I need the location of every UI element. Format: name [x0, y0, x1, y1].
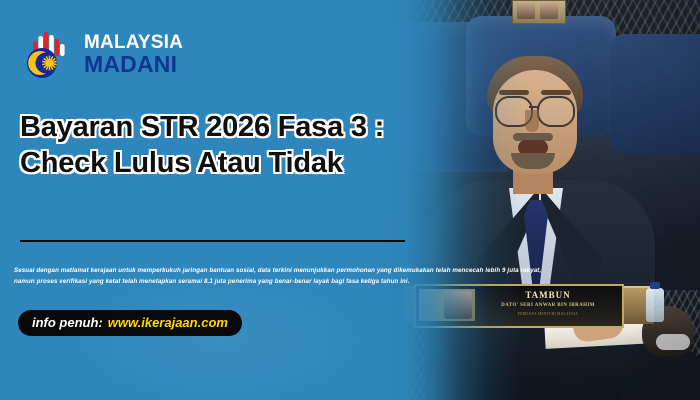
logo-line-madani: MADANI: [84, 53, 183, 76]
fineprint-line-2: namun proses verifikasi yang ketat telah…: [14, 277, 574, 288]
page-title: Bayaran STR 2026 Fasa 3 : Check Lulus At…: [20, 110, 440, 182]
headline-line-2: Check Lulus Atau Tidak: [20, 146, 440, 182]
info-pill-label: info penuh:: [32, 315, 103, 330]
info-pill[interactable]: info penuh: www.ikerajaan.com: [18, 310, 242, 336]
logo-wordmark: MALAYSIA MADANI: [84, 33, 183, 76]
fineprint-line-1: Sesuai dengan matlamat kerajaan untuk me…: [14, 266, 574, 277]
promo-banner: TAMBUN DATO' SERI ANWAR BIN IBRAHIM PERD…: [0, 0, 700, 400]
malaysia-madani-logo: MALAYSIA MADANI: [20, 28, 183, 80]
logo-line-malaysia: MALAYSIA: [84, 33, 183, 52]
horizontal-divider: [20, 240, 405, 242]
speaker-photo: TAMBUN DATO' SERI ANWAR BIN IBRAHIM PERD…: [370, 0, 700, 400]
info-pill-url[interactable]: www.ikerajaan.com: [108, 315, 228, 330]
malaysia-madani-logo-icon: [20, 28, 76, 80]
photo-blue-fade: [370, 0, 700, 400]
headline-line-1: Bayaran STR 2026 Fasa 3 :: [20, 110, 440, 146]
fineprint-paragraph: Sesuai dengan matlamat kerajaan untuk me…: [14, 266, 574, 288]
